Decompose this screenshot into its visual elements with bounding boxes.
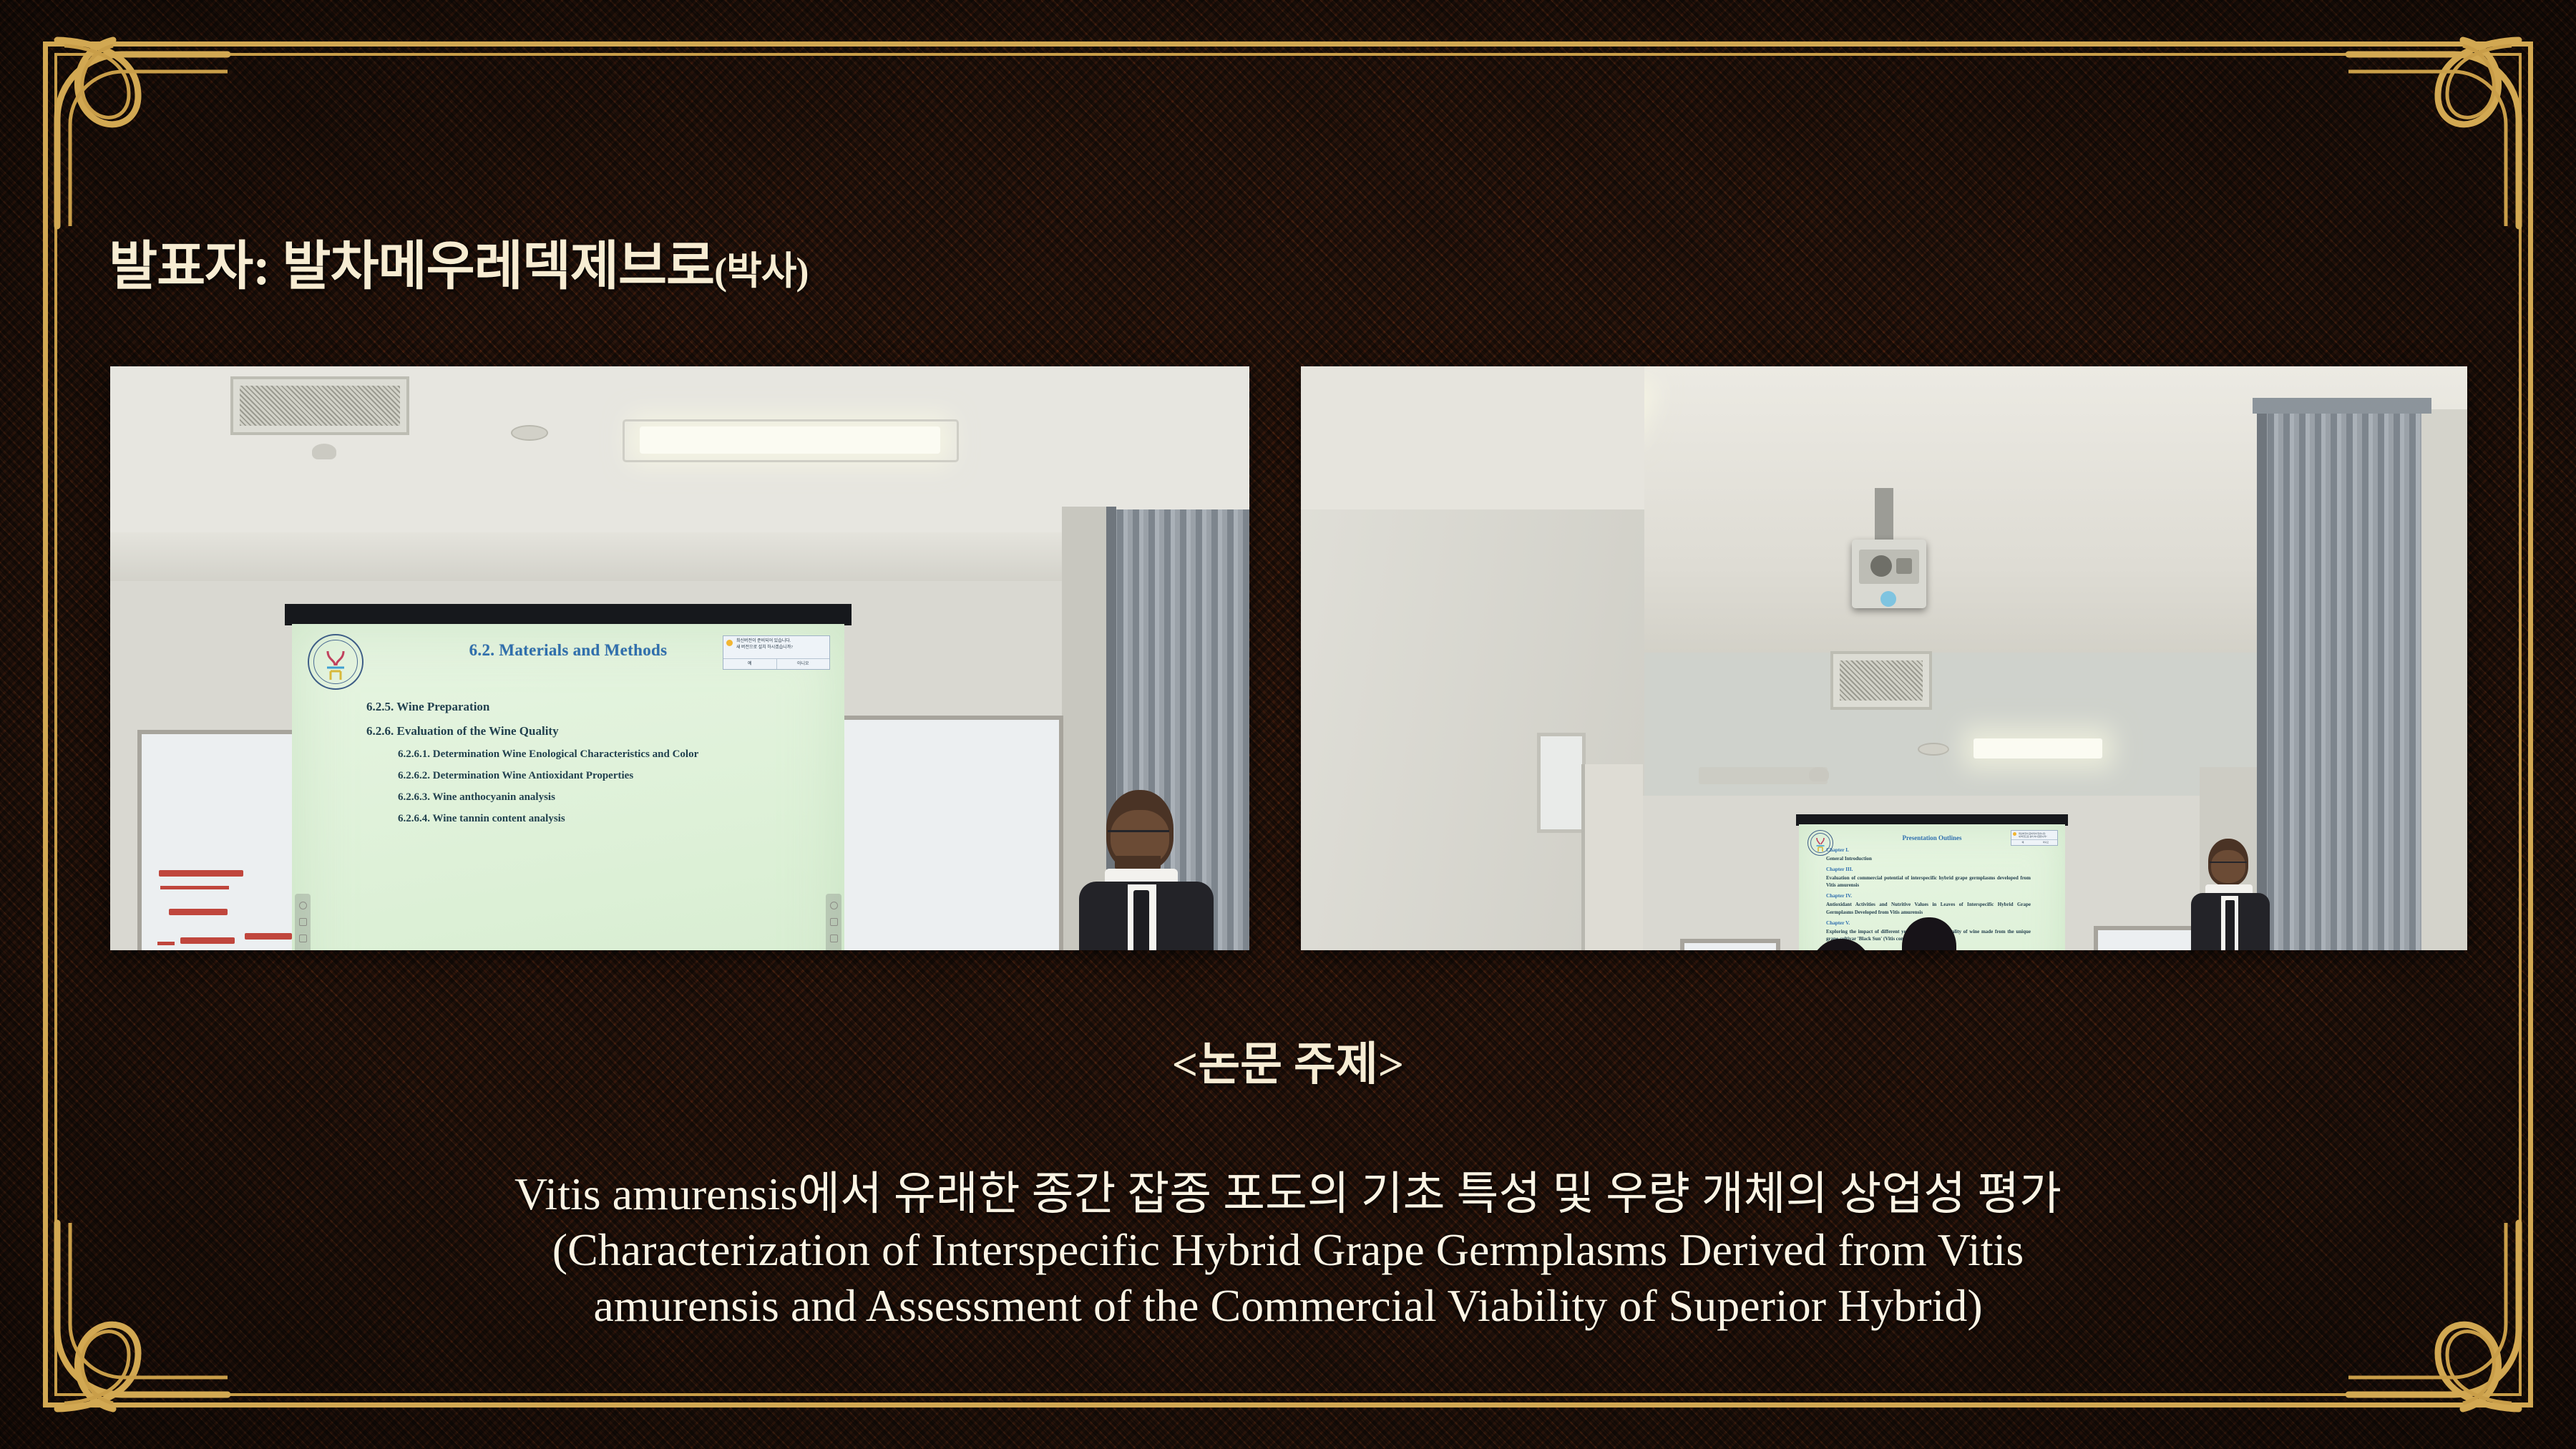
projected-slide-content-left: 최신버전이 준비되어 있습니다. 새 버전으로 설치 하시겠습니까? 예 아니오…	[292, 624, 844, 950]
slide-chapter-text: Antioxidant Activities and Nutritive Val…	[1826, 901, 2031, 915]
presenter-person	[1072, 790, 1236, 950]
ceiling-ac-vent	[1830, 651, 1932, 710]
ceiling-projector	[1852, 540, 1926, 608]
screen-toolbar-right[interactable]	[826, 894, 841, 950]
presentation-slide: 발표자: 발차메우레덱제브로(박사)	[0, 0, 2576, 1449]
projection-screen-frame	[285, 604, 852, 625]
software-update-popup: 최신버전이 준비되어 있습니다. 새 버전으로 설치 하시겠습니까? 예 아니오	[2011, 830, 2058, 846]
presenter-person	[2187, 839, 2273, 950]
slide-subitem: 6.2.6.4. Wine tannin content analysis	[398, 813, 826, 825]
projector-mount	[1875, 488, 1893, 541]
slide-chapter-label: Chapter IV.	[1826, 893, 2055, 899]
popup-line-1: 최신버전이 준비되어 있습니다.	[736, 638, 826, 645]
topic-label: <논문 주제>	[0, 1028, 2576, 1093]
slide-chapter-label: Chapter III.	[1826, 867, 2055, 872]
ceiling-speaker-icon	[1918, 743, 1949, 756]
university-seal-logo-icon	[1807, 830, 1833, 856]
smoke-detector-icon	[312, 444, 336, 459]
warning-icon	[2013, 832, 2016, 836]
paper-title-line-1: Vitis amurensis에서 유래한 종간 잡종 포도의 기초 특성 및 …	[107, 1166, 2469, 1222]
presenter-name: 발차메우레덱제브로	[282, 238, 714, 296]
whiteboard-back-right	[2094, 926, 2201, 950]
slide-chapter-text: Evaluation of commercial potential of in…	[1826, 874, 2031, 889]
slide-item: 6.2.6. Evaluation of the Wine Quality	[366, 724, 826, 738]
photo-right-room-wide-view: 최신버전이 준비되어 있습니다. 새 버전으로 설치 하시겠습니까? 예 아니오…	[1301, 366, 2467, 950]
audience-person-dark-left	[1789, 939, 1911, 950]
popup-line-2: 새 버전으로 설치 하시겠습니까?	[2019, 835, 2056, 838]
paper-title-line-2: (Characterization of Interspecific Hybri…	[107, 1222, 2469, 1278]
wall-window-panel	[1537, 733, 1586, 833]
whiteboard-back-left	[1680, 939, 1780, 950]
smoke-detector-icon	[1809, 767, 1829, 781]
ceiling-ac-vent	[230, 376, 409, 435]
paper-title-line-3: amurensis and Assessment of the Commerci…	[107, 1278, 2469, 1334]
door	[1581, 764, 1643, 950]
slide-subitem: 6.2.6.3. Wine anthocyanin analysis	[398, 791, 826, 804]
presenter-prefix-label: 발표자:	[109, 238, 282, 296]
paper-title: Vitis amurensis에서 유래한 종간 잡종 포도의 기초 특성 및 …	[107, 1166, 2469, 1334]
corner-ornament-top-right	[2348, 11, 2563, 226]
software-update-popup: 최신버전이 준비되어 있습니다. 새 버전으로 설치 하시겠습니까? 예 아니오	[723, 635, 830, 670]
ceiling-speaker-icon	[511, 425, 548, 441]
popup-yes-button[interactable]: 예	[2011, 840, 2034, 845]
window-curtain	[2263, 409, 2427, 950]
projection-screen-left: 최신버전이 준비되어 있습니다. 새 버전으로 설치 하시겠습니까? 예 아니오…	[292, 624, 844, 950]
whiteboard-right	[840, 716, 1063, 950]
warning-icon	[726, 640, 733, 646]
screen-toolbar-left[interactable]	[295, 894, 311, 950]
presenter-degree: (박사)	[714, 250, 808, 293]
popup-no-button[interactable]: 아니오	[777, 659, 830, 669]
whiteboard-writing	[153, 867, 293, 950]
slide-subitem: 6.2.6.2. Determination Wine Antioxidant …	[398, 770, 826, 782]
university-seal-logo-icon	[308, 634, 364, 690]
corner-ornament-top-left	[13, 11, 228, 226]
slide-item: 6.2.5. Wine Preparation	[366, 700, 826, 714]
slide-subitem: 6.2.6.1. Determination Wine Enological C…	[398, 748, 826, 761]
presenter-heading: 발표자: 발차메우레덱제브로(박사)	[109, 223, 808, 300]
popup-yes-button[interactable]: 예	[723, 659, 777, 669]
popup-line-2: 새 버전으로 설치 하시겠습니까?	[736, 645, 826, 651]
photo-left-presenter-at-screen: 최신버전이 준비되어 있습니다. 새 버전으로 설치 하시겠습니까? 예 아니오…	[110, 366, 1249, 950]
slide-chapter-label: Chapter I.	[1826, 847, 2055, 853]
popup-no-button[interactable]: 아니오	[2034, 840, 2057, 845]
slide-chapter-text: General Introduction	[1826, 855, 2031, 862]
